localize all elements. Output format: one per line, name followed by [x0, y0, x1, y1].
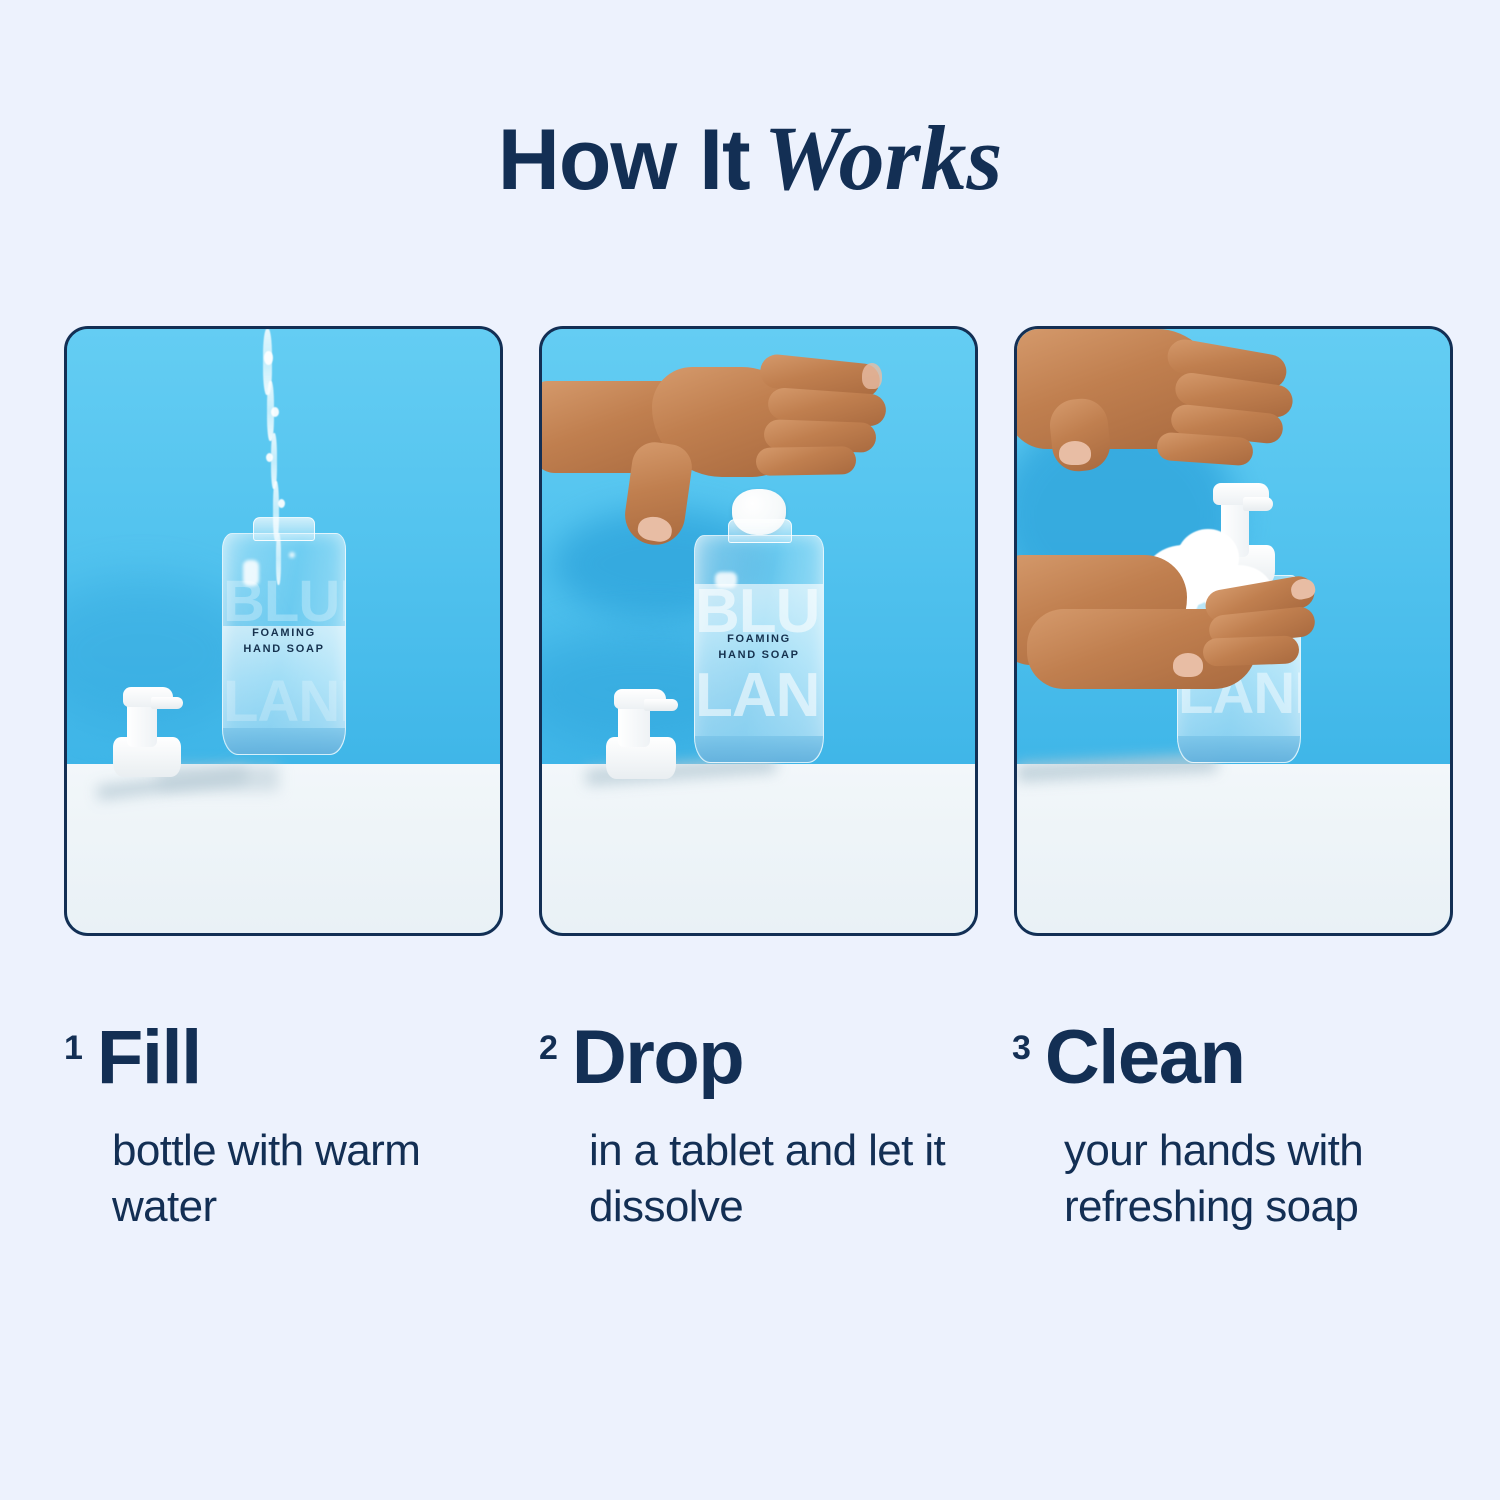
water-droplet	[278, 499, 285, 508]
scene-fill: BLUE LAND FOAMING HAND SOAP	[67, 329, 500, 933]
step-title: Clean	[1045, 1022, 1244, 1095]
bottle-base	[695, 736, 823, 762]
soap-bottle: BLUE LAND FOAMING HAND SOAP	[222, 533, 346, 755]
step-heading: 1 Fill	[64, 1022, 497, 1095]
step-clean: 3 Clean your hands with refreshing soap	[1002, 1022, 1435, 1312]
bottle-label: FOAMING HAND SOAP	[695, 632, 823, 664]
hand-pressing-pump	[1014, 329, 1337, 519]
soap-bottle: BLUE LAND FOAMING HAND SOAP	[694, 535, 824, 763]
how-it-works-panels: BLUE LAND FOAMING HAND SOAP	[64, 326, 1437, 930]
step-heading: 3 Clean	[1012, 1022, 1435, 1095]
finger-pinky	[756, 446, 856, 476]
finger-ring	[1203, 635, 1300, 666]
how-it-works-steps: 1 Fill bottle with warm water 2 Drop in …	[64, 1022, 1437, 1312]
scene-drop: BLUE LAND FOAMING HAND SOAP	[542, 329, 975, 933]
pump-spout	[644, 699, 678, 711]
bottle-neck	[253, 517, 315, 541]
thumb-nail	[1173, 653, 1203, 677]
page-title-accent: Works	[764, 107, 1003, 209]
water-droplet	[271, 407, 279, 417]
step-drop: 2 Drop in a tablet and let it dissolve	[533, 1022, 966, 1312]
pump-cap	[103, 667, 193, 777]
bottle-neck	[728, 519, 792, 543]
bottle-label-line2: HAND SOAP	[223, 642, 345, 658]
step-title: Drop	[572, 1022, 743, 1095]
bottle-label-line1: FOAMING	[223, 626, 345, 642]
step-image-clean: BLUE LAND FOAMING HAND SOAP	[1014, 326, 1453, 936]
water-droplet	[266, 453, 273, 462]
glass-highlight	[715, 572, 737, 588]
bottle-label: FOAMING HAND SOAP	[223, 626, 345, 658]
step-image-drop: BLUE LAND FOAMING HAND SOAP	[539, 326, 978, 936]
glass-highlight	[289, 552, 295, 558]
page-title-primary: How It	[498, 112, 750, 208]
pump-cap	[596, 669, 686, 779]
step-image-fill: BLUE LAND FOAMING HAND SOAP	[64, 326, 503, 936]
step-description: your hands with refreshing soap	[1064, 1123, 1435, 1236]
page-title: How ItWorks	[0, 112, 1500, 204]
step-heading: 2 Drop	[539, 1022, 966, 1095]
finger-pinky	[1156, 432, 1254, 467]
glass-highlight	[243, 560, 259, 586]
step-description: in a tablet and let it dissolve	[589, 1123, 966, 1236]
water-droplet	[264, 351, 273, 365]
pump-spout	[151, 697, 183, 709]
bottle-label-line1: FOAMING	[695, 632, 823, 648]
table-surface	[542, 764, 975, 933]
table-surface	[1017, 764, 1450, 933]
step-number: 3	[1012, 1022, 1031, 1065]
step-number: 2	[539, 1022, 558, 1065]
step-description: bottle with warm water	[112, 1123, 497, 1236]
scene-clean: BLUE LAND FOAMING HAND SOAP	[1017, 329, 1450, 933]
finger-nail	[862, 363, 882, 389]
bottle-label-line2: HAND SOAP	[695, 648, 823, 664]
step-title: Fill	[97, 1022, 201, 1095]
hand-dropping-tablet	[539, 357, 882, 557]
step-number: 1	[64, 1022, 83, 1065]
thumb-nail	[1059, 441, 1091, 465]
bottle-base	[223, 728, 345, 754]
hand-cupped	[1014, 525, 1357, 705]
step-fill: 1 Fill bottle with warm water	[64, 1022, 497, 1312]
brand-text-top: BLUE	[223, 576, 345, 628]
brand-text-bottom: LAND	[695, 668, 823, 724]
brand-text-bottom: LAND	[223, 676, 345, 728]
bottle-base	[1178, 736, 1300, 762]
